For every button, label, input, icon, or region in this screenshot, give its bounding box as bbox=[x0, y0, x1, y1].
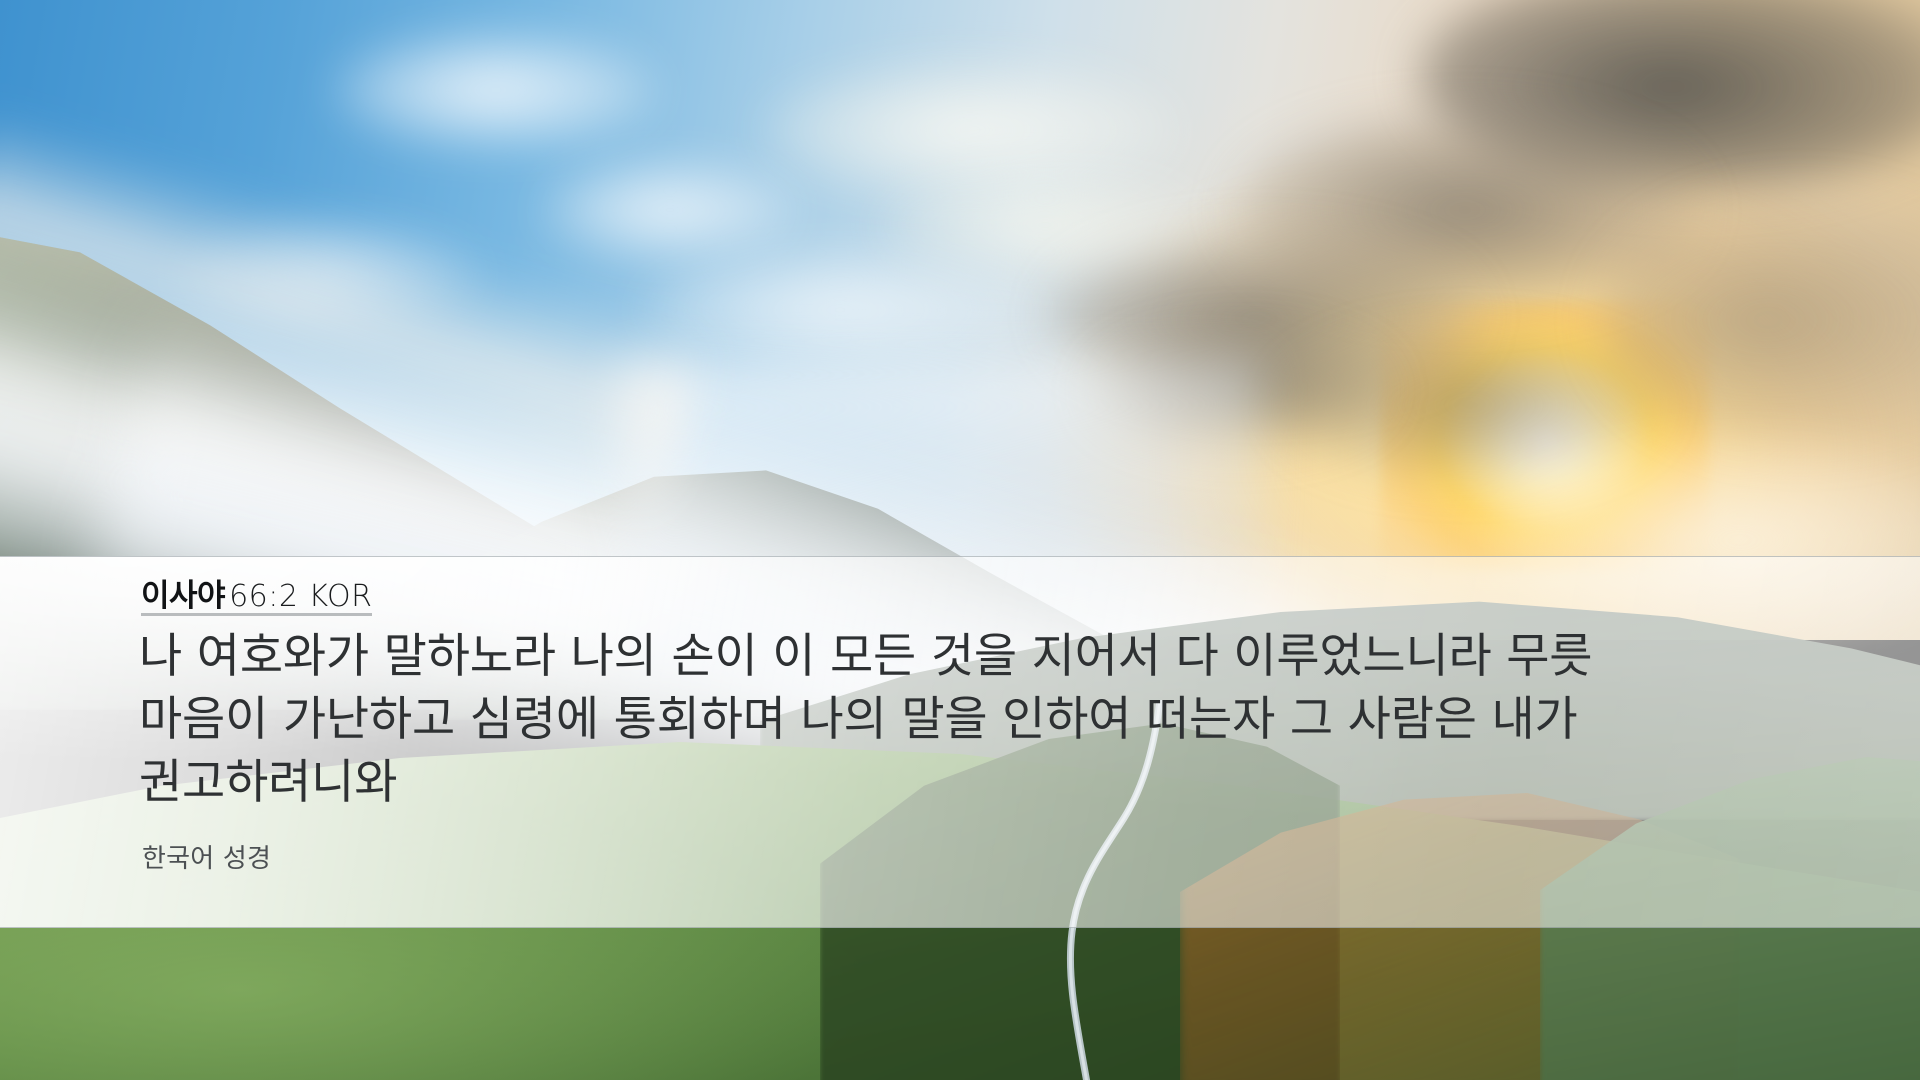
verse-line: 마음이 가난하고 심령에 통회하며 나의 말을 인하여 떠는자 그 사람은 내가 bbox=[139, 688, 1619, 751]
verse-text: 나 여호와가 말하노라 나의 손이 이 모든 것을 지어서 다 이루었느니라 무… bbox=[139, 625, 1619, 814]
verse-line: 권고하려니와 bbox=[139, 751, 1619, 814]
cloud-white-5 bbox=[880, 170, 1210, 280]
verse-attribution: 한국어 성경 bbox=[142, 838, 271, 875]
caption-overlay-band: 이사야66:2 KOR 나 여호와가 말하노라 나의 손이 이 모든 것을 지어… bbox=[0, 556, 1920, 928]
verse-line: 나 여호와가 말하노라 나의 손이 이 모든 것을 지어서 다 이루었느니라 무… bbox=[139, 625, 1619, 688]
cloud-white-1 bbox=[330, 30, 660, 150]
verse-reference-locator: 66:2 KOR bbox=[229, 579, 372, 614]
cloud-white-2 bbox=[540, 160, 800, 260]
verse-image-card: 이사야66:2 KOR 나 여호와가 말하노라 나의 손이 이 모든 것을 지어… bbox=[0, 0, 1920, 1080]
verse-reference-book: 이사야 bbox=[141, 578, 225, 614]
verse-reference: 이사야66:2 KOR bbox=[141, 581, 372, 616]
